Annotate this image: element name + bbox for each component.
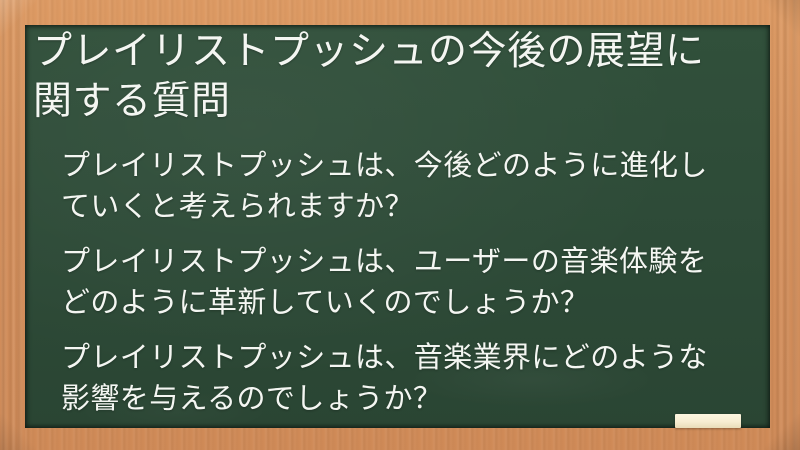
question-list: プレイリストプッシュは、今後どのように進化し ていくと考えられますか？ プレイリ… bbox=[33, 145, 760, 419]
chalkboard-surface: プレイリストプッシュの今後の展望に 関する質問 プレイリストプッシュは、今後どの… bbox=[25, 25, 770, 428]
question-item-1: プレイリストプッシュは、今後どのように進化し ていくと考えられますか？ bbox=[33, 145, 760, 227]
chalkboard-slide: プレイリストプッシュの今後の展望に 関する質問 プレイリストプッシュは、今後どの… bbox=[0, 0, 800, 450]
question-item-2: プレイリストプッシュは、ユーザーの音楽体験を どのように革新していくのでしょうか… bbox=[33, 241, 760, 323]
chalk-stick-icon bbox=[675, 414, 741, 428]
frame-grain-right bbox=[775, 0, 800, 450]
question-item-3: プレイリストプッシュは、音楽業界にどのような 影響を与えるのでしょうか？ bbox=[33, 337, 760, 419]
board-content: プレイリストプッシュの今後の展望に 関する質問 プレイリストプッシュは、今後どの… bbox=[33, 27, 760, 419]
frame-grain-left bbox=[0, 0, 25, 450]
slide-title: プレイリストプッシュの今後の展望に 関する質問 bbox=[33, 27, 760, 127]
